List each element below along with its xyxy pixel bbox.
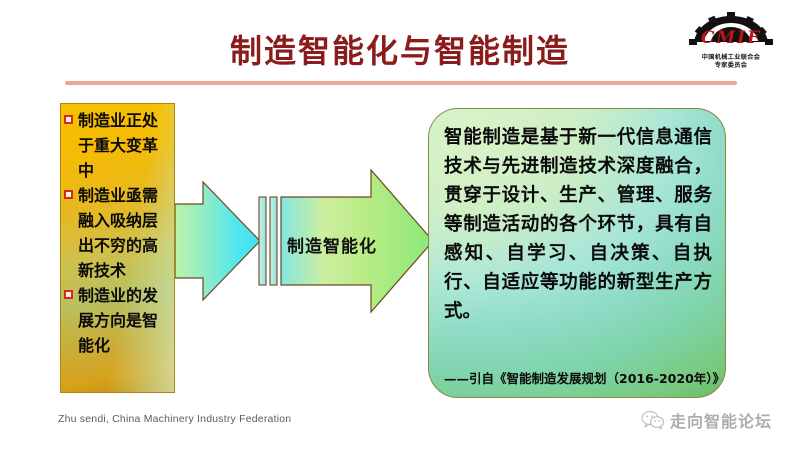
square-bullet-icon — [64, 190, 73, 199]
cmif-logo-icon: CMIF — [676, 12, 786, 56]
list-item: 制造业正处于重大变革中 — [64, 108, 170, 183]
arrow-head-left — [175, 182, 260, 300]
title-divider — [65, 81, 737, 85]
definition-box: 智能制造是基于新一代信息通信技术与先进制造技术深度融合，贯穿于设计、生产、管理、… — [428, 108, 726, 398]
list-item: 制造业的发展方向是智能化 — [64, 283, 170, 358]
square-bullet-icon — [64, 115, 73, 124]
arrow-label: 制造智能化 — [287, 232, 377, 257]
author-credit: Zhu sendi, China Machinery Industry Fede… — [58, 413, 291, 425]
list-item-label: 制造业的发展方向是智能化 — [78, 286, 158, 355]
definition-citation: ——引自《智能制造发展规划（2016-2020年）》 — [444, 368, 712, 387]
key-points-box: 制造业正处于重大变革中 制造业亟需融入吸纳层出不穷的高新技术 制造业的发展方向是… — [60, 103, 175, 393]
list-item-label: 制造业亟需融入吸纳层出不穷的高新技术 — [78, 186, 158, 280]
logo-subtitle-line2: 专家委员会 — [676, 60, 786, 69]
slide-canvas: 制造智能化与智能制造 C — [0, 0, 800, 450]
watermark: 走向智能论坛 — [641, 408, 772, 432]
list-item-label: 制造业正处于重大变革中 — [78, 111, 158, 180]
definition-text: 智能制造是基于新一代信息通信技术与先进制造技术深度融合，贯穿于设计、生产、管理、… — [444, 123, 712, 326]
watermark-label: 走向智能论坛 — [670, 408, 772, 432]
list-item: 制造业亟需融入吸纳层出不穷的高新技术 — [64, 183, 170, 283]
separator-bar-1 — [259, 197, 266, 285]
wechat-icon — [641, 410, 665, 430]
svg-text:CMIF: CMIF — [701, 28, 761, 48]
cmif-logo: CMIF 中国机械工业联合会 专家委员会 — [676, 12, 786, 74]
square-bullet-icon — [64, 290, 73, 299]
separator-bar-2 — [270, 197, 277, 285]
